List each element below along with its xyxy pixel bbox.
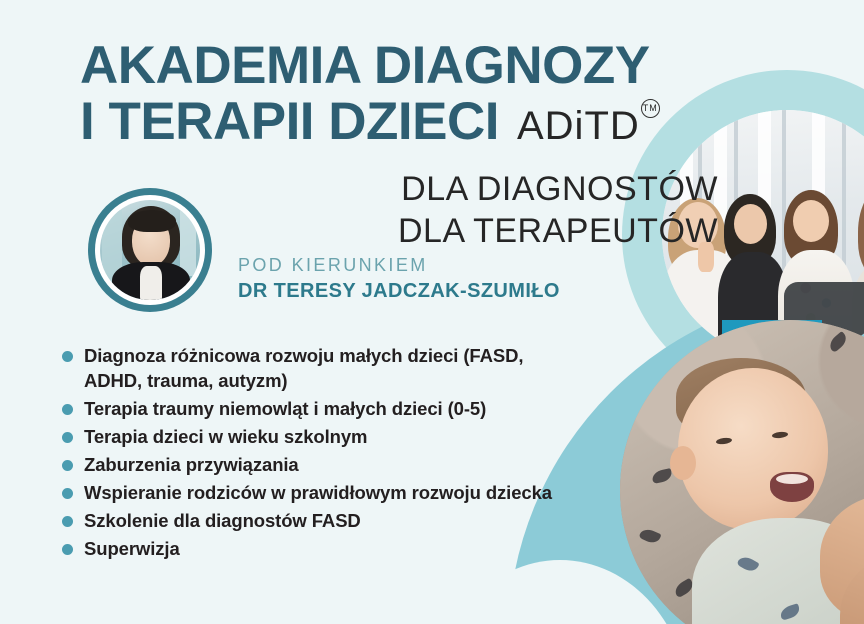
audience-line-1: DLA DIAGNOSTÓW xyxy=(398,168,718,210)
bullet-dot-icon xyxy=(62,516,73,527)
list-item: Wspieranie rodziców w prawidłowym rozwoj… xyxy=(62,480,582,505)
list-item: Diagnoza różnicowa rozwoju małych dzieci… xyxy=(62,343,582,393)
list-item: Zaburzenia przywiązania xyxy=(62,452,582,477)
list-item-label: Terapia traumy niemowląt i małych dzieci… xyxy=(84,396,486,421)
topics-list: Diagnoza różnicowa rozwoju małych dzieci… xyxy=(62,343,582,564)
bullet-dot-icon xyxy=(62,460,73,471)
trademark-icon: TM xyxy=(641,99,660,118)
leader-block: POD KIERUNKIEM DR TERESY JADCZAK-SZUMIŁO xyxy=(238,255,560,303)
bullet-dot-icon xyxy=(62,544,73,555)
leader-name: DR TERESY JADCZAK-SZUMIŁO xyxy=(238,280,560,303)
baby-photo xyxy=(620,320,864,624)
bullet-dot-icon xyxy=(62,404,73,415)
list-item-label: Zaburzenia przywiązania xyxy=(84,452,299,477)
list-item-label: Diagnoza różnicowa rozwoju małych dzieci… xyxy=(84,343,582,393)
list-item-label: Terapia dzieci w wieku szkolnym xyxy=(84,424,367,449)
list-item: Terapia traumy niemowląt i małych dzieci… xyxy=(62,396,582,421)
portrait-photo xyxy=(100,200,200,300)
bullet-dot-icon xyxy=(62,351,73,362)
audience-line-2: DLA TERAPEUTÓW xyxy=(398,210,718,252)
poster-canvas: AKADEMIA DIAGNOZY I TERAPII DZIECI ADiTD… xyxy=(0,0,864,624)
list-item-label: Superwizja xyxy=(84,536,180,561)
brand-text: ADiTD xyxy=(517,104,640,148)
page-title: AKADEMIA DIAGNOZY I TERAPII DZIECI ADiTD… xyxy=(80,38,780,154)
avatar xyxy=(88,188,212,312)
list-item-label: Wspieranie rodziców w prawidłowym rozwoj… xyxy=(84,480,552,505)
bullet-dot-icon xyxy=(62,488,73,499)
list-item: Superwizja xyxy=(62,536,582,561)
brand-acronym: ADiTDTM xyxy=(517,98,660,154)
title-line-1: AKADEMIA DIAGNOZY xyxy=(80,38,780,94)
audience-block: DLA DIAGNOSTÓW DLA TERAPEUTÓW xyxy=(398,168,718,252)
leader-prefix: POD KIERUNKIEM xyxy=(238,255,560,276)
bullet-dot-icon xyxy=(62,432,73,443)
list-item: Szkolenie dla diagnostów FASD xyxy=(62,508,582,533)
title-line-2: I TERAPII DZIECI xyxy=(80,94,499,150)
list-item-label: Szkolenie dla diagnostów FASD xyxy=(84,508,361,533)
list-item: Terapia dzieci w wieku szkolnym xyxy=(62,424,582,449)
